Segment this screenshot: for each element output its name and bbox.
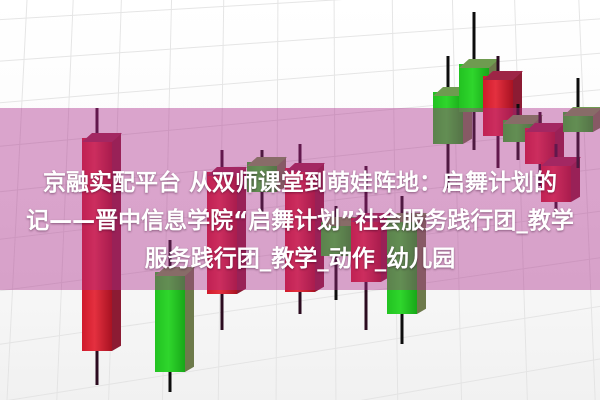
headline-line-2: 记——晋中信息学院“启舞计划”社会服务践行团_教学 bbox=[0, 202, 600, 240]
headline-line-3: 服务践行团_教学_动作_幼儿园 bbox=[0, 240, 600, 278]
thumbnail-canvas: 京融实配平台 从双师课堂到萌娃阵地：启舞计划的 记——晋中信息学院“启舞计划”社… bbox=[0, 0, 600, 400]
headline-text: 京融实配平台 从双师课堂到萌娃阵地：启舞计划的 记——晋中信息学院“启舞计划”社… bbox=[0, 164, 600, 278]
headline-line-1: 京融实配平台 从双师课堂到萌娃阵地：启舞计划的 bbox=[0, 164, 600, 202]
